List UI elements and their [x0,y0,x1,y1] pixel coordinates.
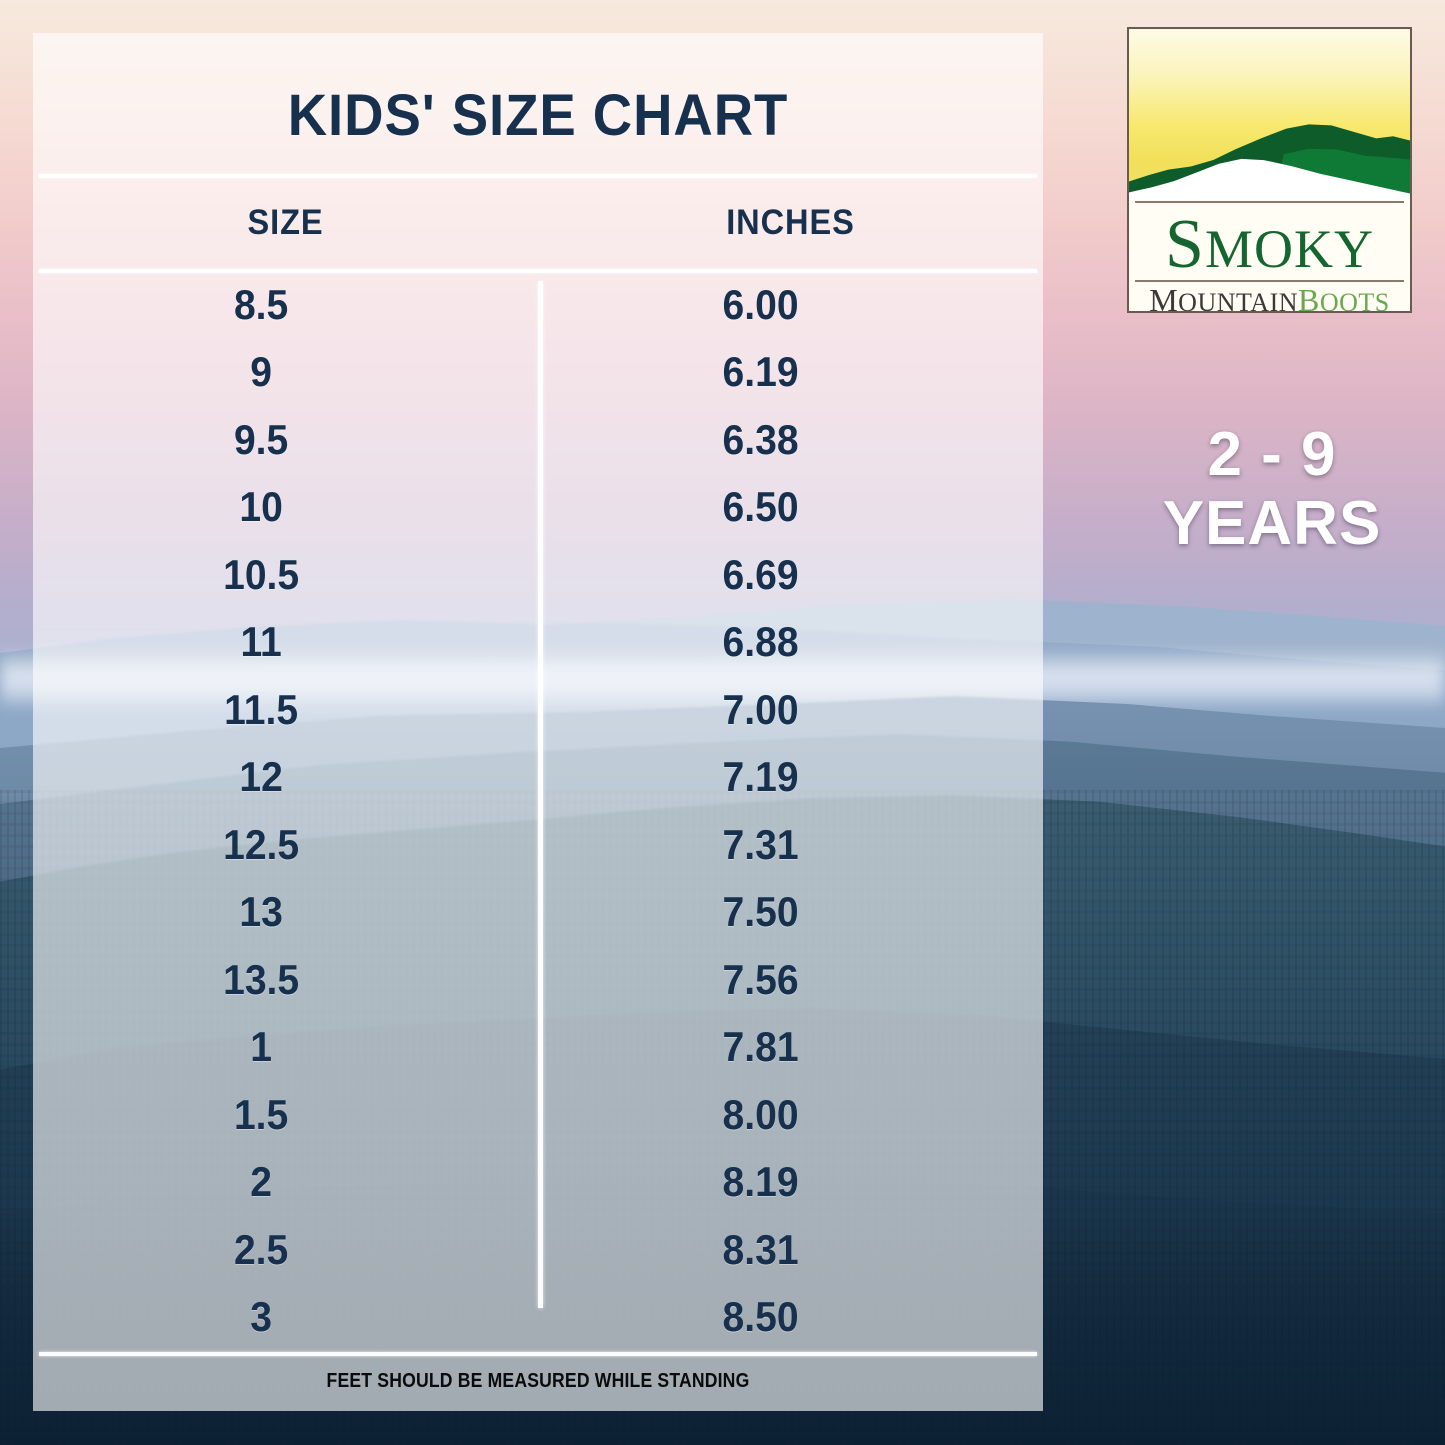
column-header-size: SIZE [51,203,521,243]
cell-size: 11 [50,618,514,666]
cell-size: 13.5 [50,956,514,1004]
cell-inches: 6.00 [550,281,1025,329]
table-row: 12.5 7.31 [33,811,1043,879]
title-zone: KIDS' SIZE CHART [33,33,1043,176]
table-row: 8.5 6.00 [33,271,1043,339]
table-row: 11.5 7.00 [33,676,1043,744]
table-row: 10.5 6.69 [33,541,1043,609]
column-header-inches: INCHES [556,203,1026,243]
cell-inches: 8.00 [550,1091,1025,1139]
age-range-value: 2 - 9 [1127,420,1417,489]
cell-size: 10.5 [50,551,514,599]
table-body: 8.5 6.00 9 6.19 9.5 6.38 10 6.50 10.5 6.… [33,271,1043,1351]
divider-above-footnote [39,1352,1037,1356]
cell-inches: 6.50 [550,483,1025,531]
size-chart-card: KIDS' SIZE CHART SIZE INCHES 8.5 6.00 9 … [33,33,1043,1411]
cell-inches: 8.31 [550,1226,1025,1274]
cell-size: 9 [50,348,514,396]
cell-inches: 7.19 [550,753,1025,801]
cell-size: 12 [50,753,514,801]
cell-size: 1.5 [50,1091,514,1139]
cell-inches: 7.81 [550,1023,1025,1071]
table-row: 2 8.19 [33,1149,1043,1217]
cell-inches: 6.69 [550,551,1025,599]
cell-inches: 6.88 [550,618,1025,666]
cell-size: 9.5 [50,416,514,464]
cell-inches: 7.56 [550,956,1025,1004]
brand-logo: SMOKY MOUNTAINBOOTS [1127,27,1412,313]
table-row: 2.5 8.31 [33,1216,1043,1284]
size-chart-poster: KIDS' SIZE CHART SIZE INCHES 8.5 6.00 9 … [0,0,1445,1445]
table-row: 1 7.81 [33,1014,1043,1082]
cell-size: 12.5 [50,821,514,869]
cell-size: 10 [50,483,514,531]
logo-mountain-rest: OUNTAIN [1178,288,1298,313]
cell-inches: 7.00 [550,686,1025,734]
cell-inches: 8.19 [550,1158,1025,1206]
cell-size: 1 [50,1023,514,1071]
page-title: KIDS' SIZE CHART [63,82,1012,149]
cell-size: 3 [50,1293,514,1341]
logo-smoky-cap: S [1165,206,1205,283]
cell-inches: 8.50 [550,1293,1025,1341]
table-header-row: SIZE INCHES [33,176,1043,269]
table-row: 10 6.50 [33,474,1043,542]
table-row: 12 7.19 [33,744,1043,812]
cell-inches: 6.19 [550,348,1025,396]
logo-brand-mountainboots: MOUNTAINBOOTS [1129,282,1410,313]
table-row: 13 7.50 [33,879,1043,947]
table-row: 13.5 7.56 [33,946,1043,1014]
cell-inches: 7.50 [550,888,1025,936]
cell-inches: 7.31 [550,821,1025,869]
logo-boots-cap: B [1298,282,1320,313]
cell-size: 13 [50,888,514,936]
cell-inches: 6.38 [550,416,1025,464]
logo-mountain-cap: M [1149,282,1178,313]
logo-boots-rest: OOTS [1320,288,1390,313]
age-range-unit: YEARS [1127,489,1417,558]
cell-size: 8.5 [50,281,514,329]
cell-size: 2 [50,1158,514,1206]
cell-size: 2.5 [50,1226,514,1274]
age-range-badge: 2 - 9 YEARS [1127,420,1417,559]
logo-brand-smoky: SMOKY [1129,203,1410,280]
table-row: 1.5 8.00 [33,1081,1043,1149]
table-row: 9 6.19 [33,339,1043,407]
logo-smoky-rest: MOKY [1205,219,1374,279]
logo-mountain-scene-icon [1129,29,1410,201]
cell-size: 11.5 [50,686,514,734]
measurement-note: FEET SHOULD BE MEASURED WHILE STANDING [94,1370,983,1393]
table-row: 9.5 6.38 [33,406,1043,474]
table-row: 3 8.50 [33,1284,1043,1352]
table-row: 11 6.88 [33,609,1043,677]
